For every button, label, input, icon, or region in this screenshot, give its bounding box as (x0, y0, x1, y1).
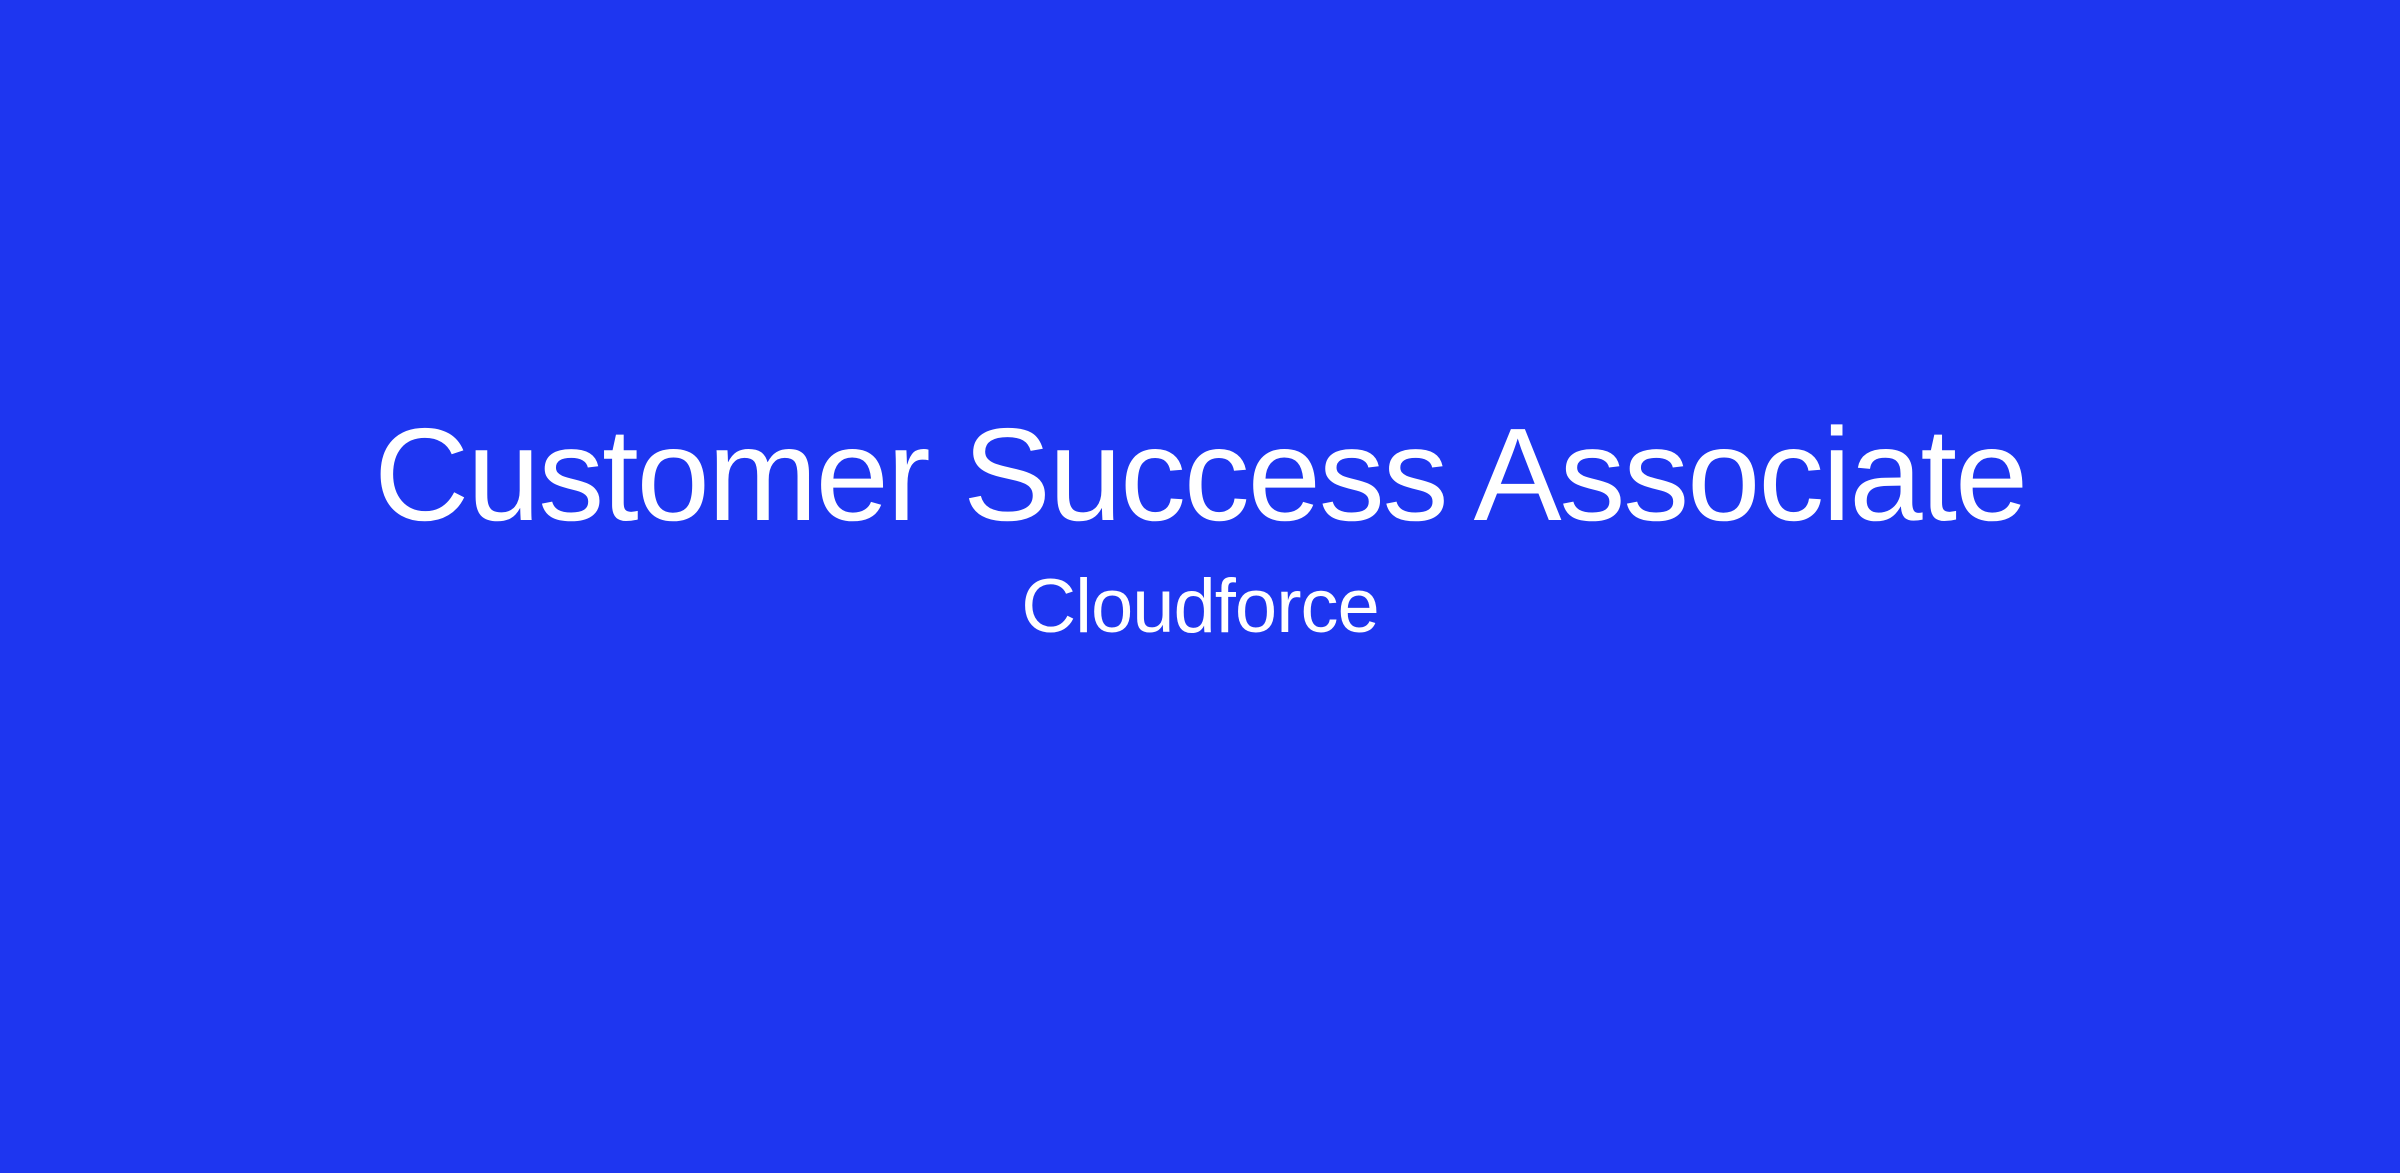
hero-text-block: Customer Success Associate Cloudforce (0, 409, 2400, 645)
job-posting-hero-card: Customer Success Associate Cloudforce (0, 0, 2400, 1173)
company-name: Cloudforce (1021, 569, 1379, 645)
job-title: Customer Success Associate (374, 409, 2026, 541)
